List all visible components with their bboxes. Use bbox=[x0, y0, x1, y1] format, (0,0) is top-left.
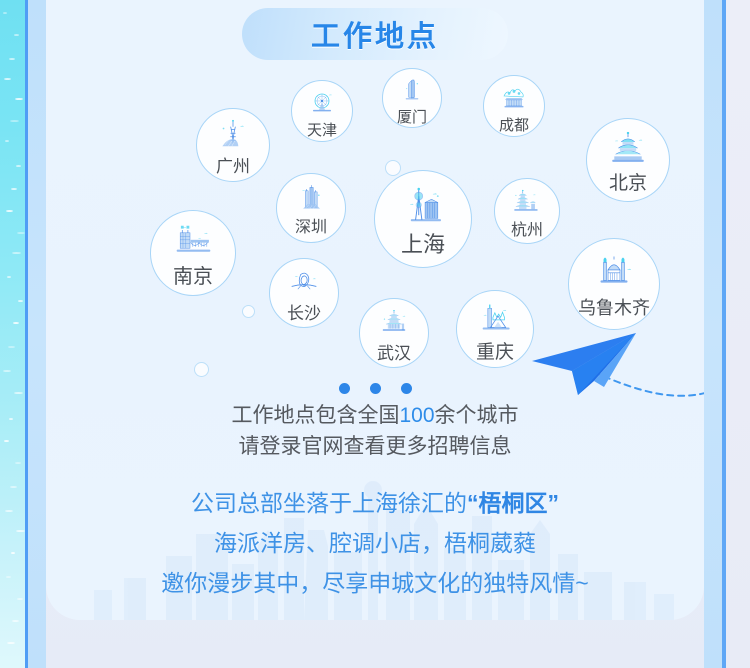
sparkle-dot bbox=[17, 232, 25, 234]
city-bubble-nanjing-yangtze-bridge[interactable]: 南京 bbox=[150, 210, 236, 296]
city-bubble-yellow-crane-tower[interactable]: 武汉 bbox=[359, 298, 429, 368]
decorative-bubble bbox=[242, 305, 255, 318]
city-bubble-chongqing-grand-theatre[interactable]: 重庆 bbox=[456, 290, 534, 368]
left-cyan-decor-strip bbox=[0, 0, 25, 668]
decorative-bubble bbox=[194, 362, 209, 377]
city-bubble-chengdu-panda-pavilion[interactable]: 成都 bbox=[483, 75, 545, 137]
content-card: 工作地点 广州天津厦门成都北京深圳上海杭州南京长沙武汉重庆乌鲁木齐 工作地点包含… bbox=[46, 0, 704, 620]
sparkle-dot bbox=[12, 620, 19, 622]
sparkle-dot bbox=[4, 78, 11, 80]
sparkle-dot bbox=[10, 486, 17, 488]
leifeng-pagoda-icon bbox=[510, 188, 544, 221]
sparkle-dot bbox=[6, 576, 11, 578]
canton-tower-icon bbox=[214, 119, 252, 155]
sparkle-dot bbox=[5, 140, 9, 142]
city-bubble-tianjin-eye-ferris-wheel[interactable]: 天津 bbox=[291, 80, 353, 142]
poster-stage: 工作地点 广州天津厦门成都北京深圳上海杭州南京长沙武汉重庆乌鲁木齐 工作地点包含… bbox=[0, 0, 750, 668]
sparkle-dot bbox=[11, 188, 17, 190]
city-bubble-shenzhen-tower[interactable]: 深圳 bbox=[276, 173, 346, 243]
city-bubble-label: 重庆 bbox=[476, 343, 514, 362]
sparkle-dot bbox=[9, 58, 15, 60]
nanjing-yangtze-bridge-icon bbox=[171, 223, 216, 264]
middle-line1-prefix: 工作地点包含全国 bbox=[231, 404, 399, 427]
sparkle-dot bbox=[7, 642, 15, 644]
sparkle-dot bbox=[8, 346, 15, 348]
sparkle-dot bbox=[15, 462, 21, 464]
city-bubble-label: 广州 bbox=[216, 158, 250, 175]
middle-text-block: 工作地点包含全国100余个城市 请登录官网查看更多招聘信息 bbox=[46, 400, 704, 462]
left-light-blue-band bbox=[28, 0, 46, 668]
sparkle-dot bbox=[11, 552, 15, 554]
city-bubble-label: 武汉 bbox=[377, 345, 411, 362]
divider-dot bbox=[401, 383, 412, 394]
divider-dot bbox=[370, 383, 381, 394]
sparkle-dot bbox=[16, 165, 21, 167]
city-bubble-label: 南京 bbox=[173, 267, 213, 287]
sparkle-dot bbox=[18, 300, 23, 302]
orange-isle-head-icon bbox=[286, 269, 322, 303]
chengdu-panda-pavilion-icon bbox=[498, 85, 530, 116]
sparkle-dot bbox=[7, 276, 11, 278]
city-bubble-label: 天津 bbox=[307, 123, 337, 138]
bottom-line1-prefix: 公司总部坐落于上海徐汇的 bbox=[191, 490, 467, 516]
middle-line1-suffix: 余个城市 bbox=[435, 404, 519, 427]
sparkle-dot bbox=[14, 34, 19, 36]
right-light-blue-band bbox=[704, 0, 722, 668]
sparkle-dot bbox=[9, 418, 13, 420]
yellow-crane-tower-icon bbox=[376, 309, 412, 343]
dot-divider bbox=[46, 383, 704, 394]
city-bubble-label: 上海 bbox=[401, 234, 445, 256]
sparkle-dot bbox=[10, 120, 19, 122]
wutong-district-quoted: “梧桐区” bbox=[467, 490, 559, 516]
city-bubble-label: 乌鲁木齐 bbox=[578, 299, 650, 317]
city-bubble-temple-of-heaven[interactable]: 北京 bbox=[586, 118, 670, 202]
bottom-text-line-1: 公司总部坐落于上海徐汇的“梧桐区” bbox=[46, 483, 704, 523]
city-bubble-xiamen-tower[interactable]: 厦门 bbox=[382, 68, 442, 128]
sparkle-dot bbox=[3, 12, 7, 14]
divider-dot bbox=[339, 383, 350, 394]
decorative-bubble bbox=[385, 160, 401, 176]
city-bubble-label: 深圳 bbox=[295, 220, 327, 236]
city-bubble-label: 北京 bbox=[609, 174, 647, 193]
city-bubble-label: 杭州 bbox=[511, 223, 543, 239]
city-bubble-canton-tower[interactable]: 广州 bbox=[196, 108, 270, 182]
middle-text-line-1: 工作地点包含全国100余个城市 bbox=[46, 400, 704, 431]
right-lavender-edge bbox=[726, 0, 750, 668]
city-bubble-leifeng-pagoda[interactable]: 杭州 bbox=[494, 178, 560, 244]
city-bubble-urumqi-mosque[interactable]: 乌鲁木齐 bbox=[568, 238, 660, 330]
city-bubble-orange-isle-head[interactable]: 长沙 bbox=[269, 258, 339, 328]
bottom-text-line-3: 邀你漫步其中，尽享申城文化的独特风情~ bbox=[46, 563, 704, 603]
sparkle-dot bbox=[16, 530, 25, 532]
oriental-pearl-tower-icon bbox=[398, 185, 449, 231]
sparkle-dot bbox=[14, 392, 23, 394]
sparkle-dot bbox=[6, 210, 13, 212]
bottom-text-block: 公司总部坐落于上海徐汇的“梧桐区” 海派洋房、腔调小店，梧桐葳蕤 邀你漫步其中，… bbox=[46, 483, 704, 603]
city-count-highlight: 100 bbox=[399, 404, 434, 427]
sparkle-dot bbox=[15, 98, 23, 100]
city-bubble-label: 厦门 bbox=[397, 110, 427, 125]
city-bubble-label: 成都 bbox=[499, 118, 529, 133]
city-bubble-label: 长沙 bbox=[287, 305, 321, 322]
shenzhen-tower-icon bbox=[293, 184, 329, 218]
temple-of-heaven-icon bbox=[606, 131, 650, 172]
tianjin-eye-ferris-wheel-icon bbox=[306, 90, 338, 121]
sparkle-dot bbox=[5, 510, 13, 512]
sparkle-dot bbox=[4, 440, 9, 442]
city-bubble-oriental-pearl-tower[interactable]: 上海 bbox=[374, 170, 472, 268]
sparkle-dot bbox=[3, 370, 11, 372]
sparkle-dot bbox=[13, 322, 19, 324]
sparkle-dot bbox=[17, 598, 23, 600]
sparkle-dot bbox=[12, 252, 21, 254]
chongqing-grand-theatre-icon bbox=[475, 302, 516, 340]
xiamen-tower-icon bbox=[397, 77, 428, 107]
middle-text-line-2: 请登录官网查看更多招聘信息 bbox=[46, 431, 704, 462]
urumqi-mosque-icon bbox=[590, 252, 638, 296]
bottom-text-line-2: 海派洋房、腔调小店，梧桐葳蕤 bbox=[46, 523, 704, 563]
